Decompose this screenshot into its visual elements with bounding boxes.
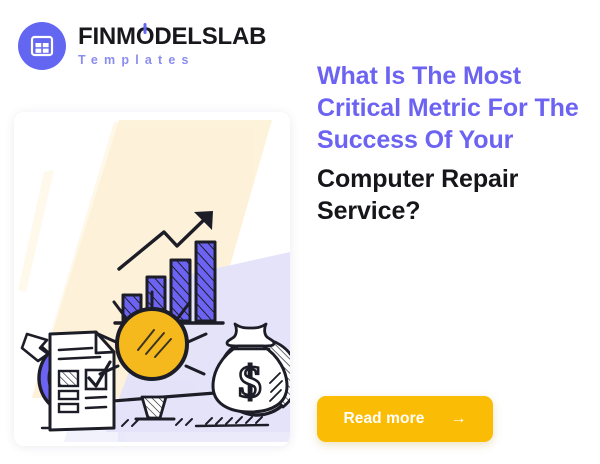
brand-tagline: Templates	[78, 54, 266, 67]
brand-name-part2: DELSLAB	[154, 23, 266, 50]
grid-icon	[29, 33, 55, 59]
read-more-label: Read more	[343, 410, 424, 428]
brand-name-o: O	[136, 25, 154, 49]
copy-block: What Is The Most Critical Metric For The…	[317, 61, 583, 228]
brand-logo[interactable]: FINMODELSLAB Templates	[18, 22, 266, 70]
illustration-card: $	[14, 112, 290, 446]
brand-text: FINMODELSLAB Templates	[78, 25, 266, 67]
read-more-button[interactable]: Read more →	[317, 396, 493, 442]
brand-name-part1: FINM	[78, 23, 136, 50]
document-with-checkmark	[50, 332, 114, 430]
brand-mark-circle	[18, 22, 66, 70]
arrow-right-icon: →	[450, 411, 466, 427]
business-metrics-illustration: $	[14, 112, 290, 446]
page-title: What Is The Most Critical Metric For The…	[317, 61, 583, 156]
page-subtitle: Computer Repair Service?	[317, 164, 583, 228]
brand-name: FINMODELSLAB	[78, 25, 266, 49]
power-icon	[144, 23, 147, 34]
svg-text:$: $	[239, 356, 262, 407]
